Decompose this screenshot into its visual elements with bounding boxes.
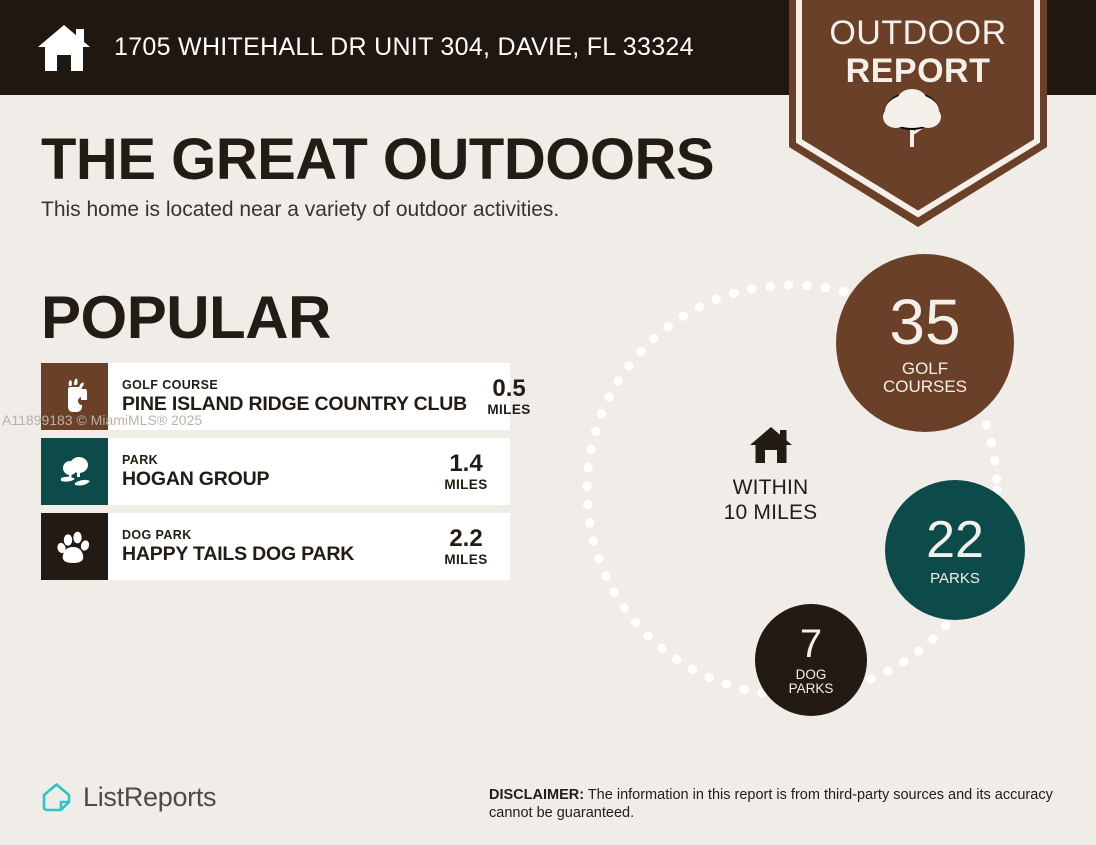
distance-value: 1.4 — [449, 451, 482, 477]
place-name: HOGAN GROUP — [122, 468, 424, 490]
radius-center-label: WITHIN 10 MILES — [718, 425, 823, 525]
mls-watermark: A11899183 © MiamiMLS® 2025 — [2, 412, 202, 428]
park-trees-icon — [41, 438, 108, 505]
radius-line2: 10 MILES — [724, 500, 818, 525]
stat-label-line1: DOG — [796, 668, 827, 682]
distance-unit: MILES — [444, 552, 487, 567]
stat-count: 22 — [926, 514, 984, 566]
place-category: GOLF COURSE — [122, 378, 467, 393]
listreports-logo[interactable]: ListReports — [41, 782, 216, 813]
place-name: HAPPY TAILS DOG PARK — [122, 543, 424, 565]
list-item[interactable]: PARK HOGAN GROUP 1.4 MILES — [41, 438, 510, 505]
popular-places-list: GOLF COURSE PINE ISLAND RIDGE COUNTRY CL… — [41, 363, 510, 588]
listreports-house-icon — [41, 782, 72, 813]
page-subtitle: This home is located near a variety of o… — [41, 198, 559, 222]
list-item[interactable]: DOG PARK HAPPY TAILS DOG PARK 2.2 MILES — [41, 513, 510, 580]
stat-circle-golf-courses: 35 GOLF COURSES — [836, 254, 1014, 432]
paw-print-icon — [41, 513, 108, 580]
disclaimer-label: DISCLAIMER: — [489, 787, 584, 803]
disclaimer: DISCLAIMER: The information in this repo… — [489, 786, 1059, 822]
listreports-logo-text: ListReports — [83, 782, 216, 813]
stat-label-line2: COURSES — [883, 378, 967, 396]
place-category: DOG PARK — [122, 528, 424, 543]
place-distance: 0.5 MILES — [473, 363, 553, 430]
distance-value: 2.2 — [449, 526, 482, 552]
home-icon — [749, 425, 793, 475]
stat-count: 35 — [889, 290, 960, 354]
stat-circle-dog-parks: 7 DOG PARKS — [755, 604, 867, 716]
page-title: THE GREAT OUTDOORS — [41, 128, 714, 192]
place-category: PARK — [122, 453, 424, 468]
distance-value: 0.5 — [492, 376, 525, 402]
stat-label-line1: PARKS — [930, 571, 980, 587]
place-info: PARK HOGAN GROUP — [108, 438, 430, 505]
property-address: 1705 WHITEHALL DR UNIT 304, DAVIE, FL 33… — [114, 33, 694, 62]
home-icon — [0, 23, 92, 73]
radius-line1: WITHIN — [733, 475, 809, 500]
radius-summary-diagram: 35 GOLF COURSES 22 PARKS 7 DOG PARKS WIT… — [580, 240, 1050, 730]
place-info: DOG PARK HAPPY TAILS DOG PARK — [108, 513, 430, 580]
outdoor-report-badge: OUTDOOR REPORT — [789, 0, 1047, 227]
stat-label-line1: GOLF — [902, 360, 948, 378]
popular-section-heading: POPULAR — [41, 283, 331, 352]
place-distance: 1.4 MILES — [430, 438, 510, 505]
place-distance: 2.2 MILES — [430, 513, 510, 580]
stat-circle-parks: 22 PARKS — [885, 480, 1025, 620]
stat-label-line2: PARKS — [789, 682, 834, 696]
distance-unit: MILES — [444, 477, 487, 492]
distance-unit: MILES — [487, 402, 530, 417]
stat-count: 7 — [800, 624, 822, 664]
